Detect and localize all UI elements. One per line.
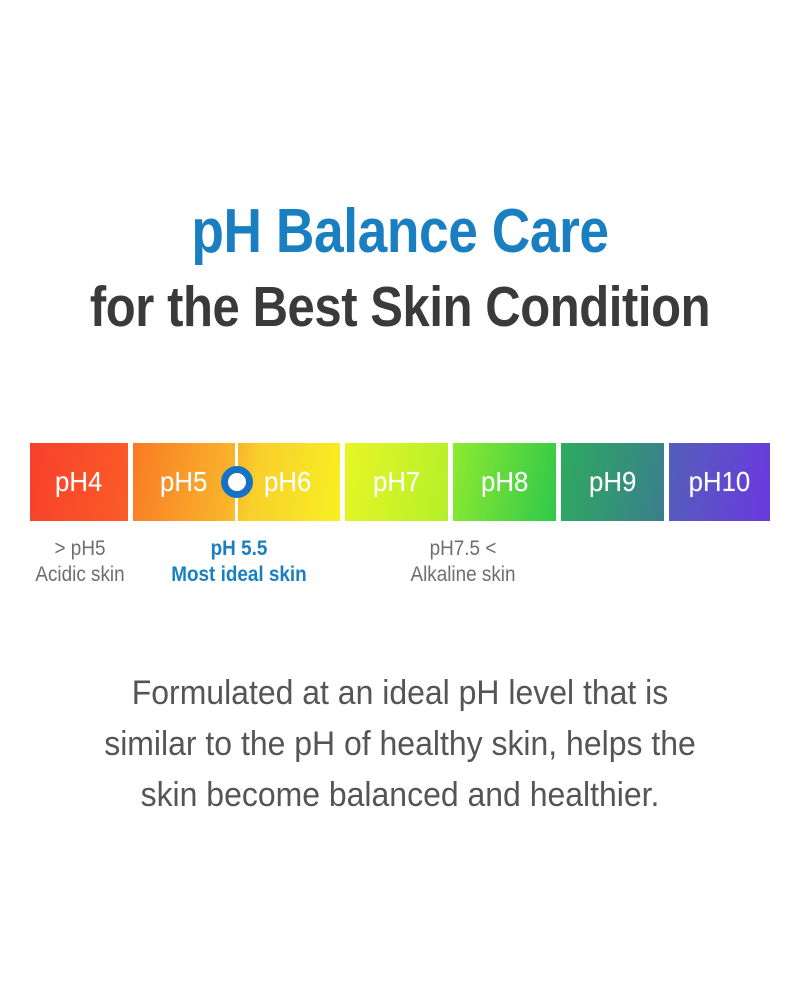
ph-segment-ph10[interactable]: pH10 <box>669 443 770 521</box>
heading-block: pH Balance Care for the Best Skin Condit… <box>0 196 800 340</box>
ph-segment-label-ph9: pH9 <box>589 466 636 498</box>
caption-acidic-skin: > pH5 Acidic skin <box>0 536 160 588</box>
ph-balance-infographic: pH Balance Care for the Best Skin Condit… <box>0 0 800 1000</box>
ph-segment-label-ph6: pH6 <box>264 466 311 498</box>
ph-segment-label-ph8: pH8 <box>481 466 528 498</box>
body-line-2: similar to the pH of healthy skin, helps… <box>71 719 729 770</box>
page-subtitle: for the Best Skin Condition <box>56 274 744 340</box>
ph-segment-ph9[interactable]: pH9 <box>561 443 664 521</box>
ph-segment-ph7[interactable]: pH7 <box>345 443 448 521</box>
ph-segment-pair-ph5-ph6: pH5 pH6 <box>133 443 340 521</box>
caption-ideal-value: pH 5.5 <box>159 536 319 562</box>
caption-ideal-label: Most ideal skin <box>159 562 319 588</box>
ph-segment-ph4[interactable]: pH4 <box>30 443 128 521</box>
body-paragraph: Formulated at an ideal pH level that is … <box>71 668 729 821</box>
body-line-3: skin become balanced and healthier. <box>71 770 729 821</box>
ph-scale: pH4 pH5 pH6 pH7 pH8 pH9 <box>30 443 770 521</box>
ph-scale-captions: > pH5 Acidic skin pH 5.5 Most ideal skin… <box>0 536 800 596</box>
caption-ideal-skin: pH 5.5 Most ideal skin <box>150 536 328 588</box>
caption-alkaline-label: Alkaline skin <box>379 562 546 588</box>
ph-scale-bar: pH4 pH5 pH6 pH7 pH8 pH9 <box>30 443 770 521</box>
caption-acidic-range: > pH5 <box>8 536 152 562</box>
caption-alkaline-range: pH7.5 < <box>379 536 546 562</box>
caption-acidic-label: Acidic skin <box>8 562 152 588</box>
ph-segment-ph8[interactable]: pH8 <box>453 443 556 521</box>
ph-segment-label-ph7: pH7 <box>373 466 420 498</box>
page-title: pH Balance Care <box>56 196 744 268</box>
ph-ideal-marker[interactable] <box>221 466 253 498</box>
body-line-1: Formulated at an ideal pH level that is <box>71 668 729 719</box>
ph-segment-label-ph4: pH4 <box>55 466 102 498</box>
ph-segment-label-ph10: pH10 <box>689 466 751 498</box>
ph-segment-label-ph5: pH5 <box>160 466 207 498</box>
caption-alkaline-skin: pH7.5 < Alkaline skin <box>370 536 556 588</box>
